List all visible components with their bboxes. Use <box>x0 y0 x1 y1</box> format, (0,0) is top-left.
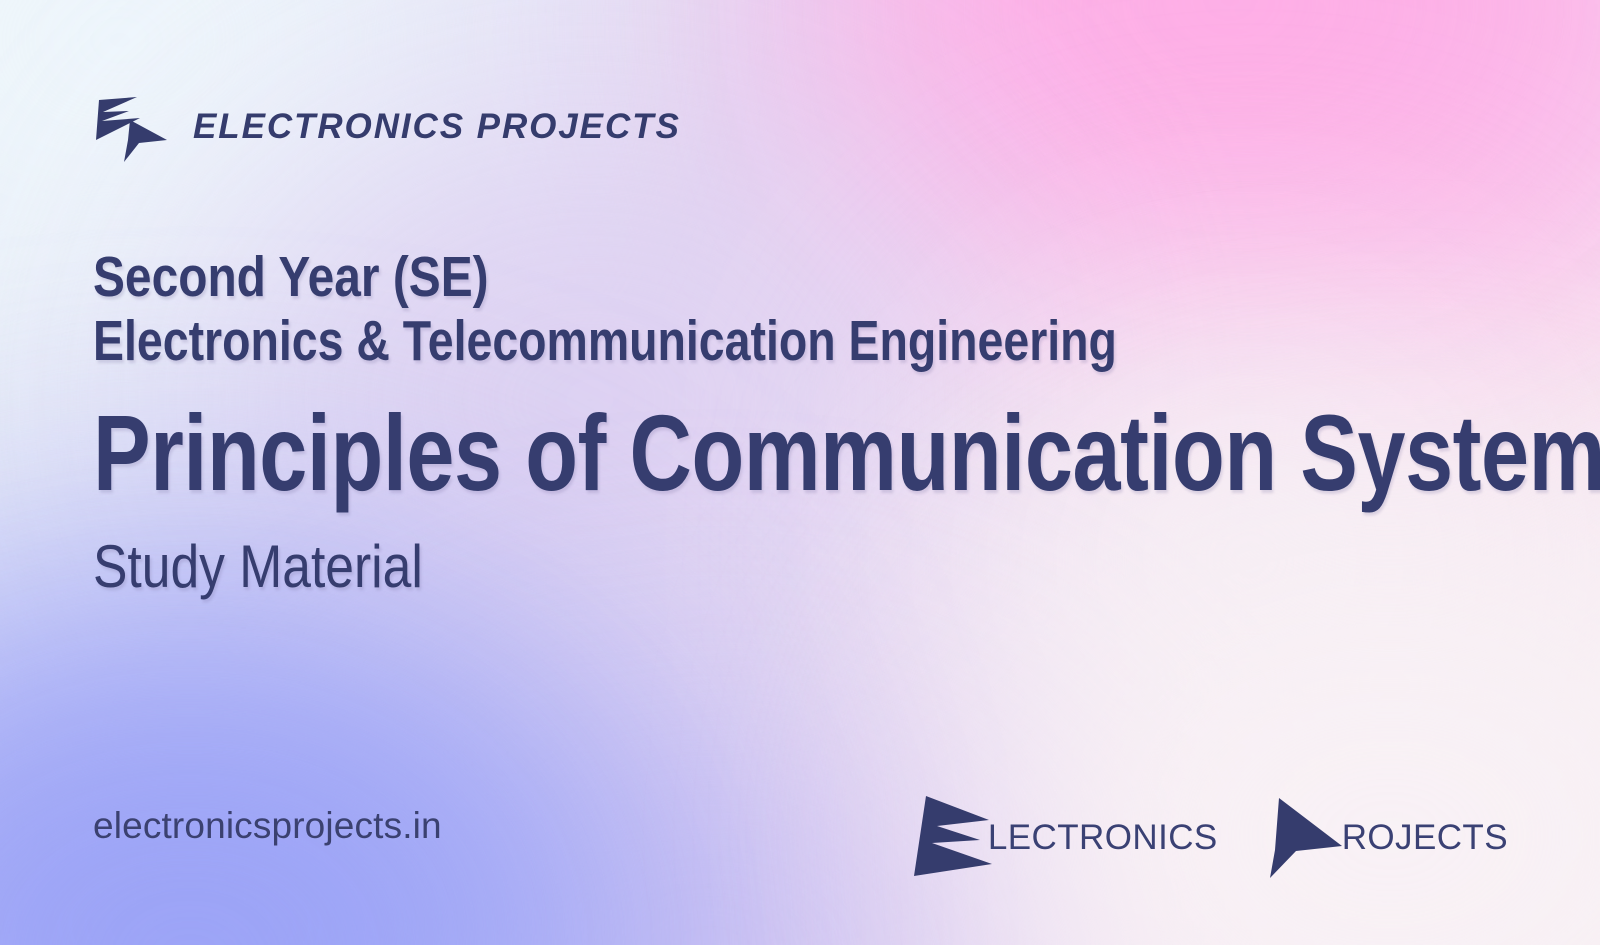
logo-p-arrow-icon <box>1248 788 1346 880</box>
site-url[interactable]: electronicsprojects.in <box>93 805 442 847</box>
logo-e-arrow-icon <box>896 788 994 880</box>
footer-logo-electronics: LECTRONICS <box>896 788 1218 880</box>
logo-e-arrow-icon <box>93 88 171 164</box>
slide-canvas: ELECTRONICS PROJECTS Second Year (SE) El… <box>0 0 1600 945</box>
brand-logo-mark <box>93 88 171 164</box>
footer-logo-projects: ROJECTS <box>1248 788 1508 880</box>
branch-label: Electronics & Telecommunication Engineer… <box>93 310 1258 374</box>
footer-logo-lockup: LECTRONICS ROJECTS <box>896 786 1508 882</box>
academic-year-label: Second Year (SE) <box>93 248 1294 306</box>
subject-title: Principles of Communication System <box>93 396 1237 509</box>
footer-logo-text-electronics: LECTRONICS <box>988 820 1218 855</box>
headline-block: Second Year (SE) Electronics & Telecommu… <box>93 248 1523 598</box>
material-type-label: Study Material <box>93 535 1323 598</box>
brand-header: ELECTRONICS PROJECTS <box>93 88 681 164</box>
brand-wordmark: ELECTRONICS PROJECTS <box>193 109 681 144</box>
footer-logo-text-projects: ROJECTS <box>1342 820 1508 855</box>
